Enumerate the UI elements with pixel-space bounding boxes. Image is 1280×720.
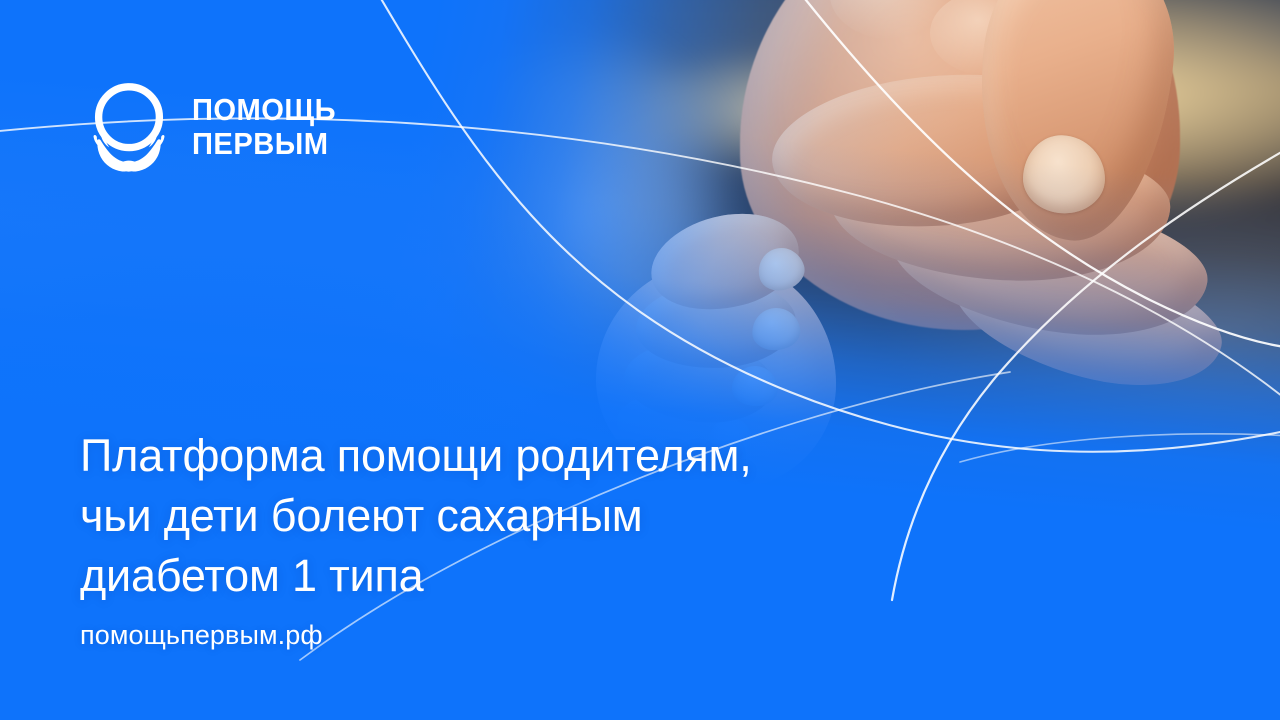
brand-name-line-2: ПЕРВЫМ — [192, 128, 336, 160]
headline-line-3: диабетом 1 типа — [80, 546, 900, 606]
brand-name-line-1: ПОМОЩЬ — [192, 94, 336, 126]
promo-slide: ПОМОЩЬ ПЕРВЫМ Платформа помощи родителям… — [0, 0, 1280, 720]
brand-logo[interactable]: ПОМОЩЬ ПЕРВЫМ — [80, 76, 345, 176]
site-url[interactable]: помощьпервым.рф — [80, 620, 323, 651]
headline-line-2: чьи дети болеют сахарным — [80, 486, 900, 546]
page-title: Платформа помощи родителям, чьи дети бол… — [80, 426, 900, 606]
brand-wordmark: ПОМОЩЬ ПЕРВЫМ — [192, 92, 345, 160]
circle-with-cupped-hands-icon — [80, 76, 178, 176]
headline-line-1: Платформа помощи родителям, — [80, 426, 900, 486]
